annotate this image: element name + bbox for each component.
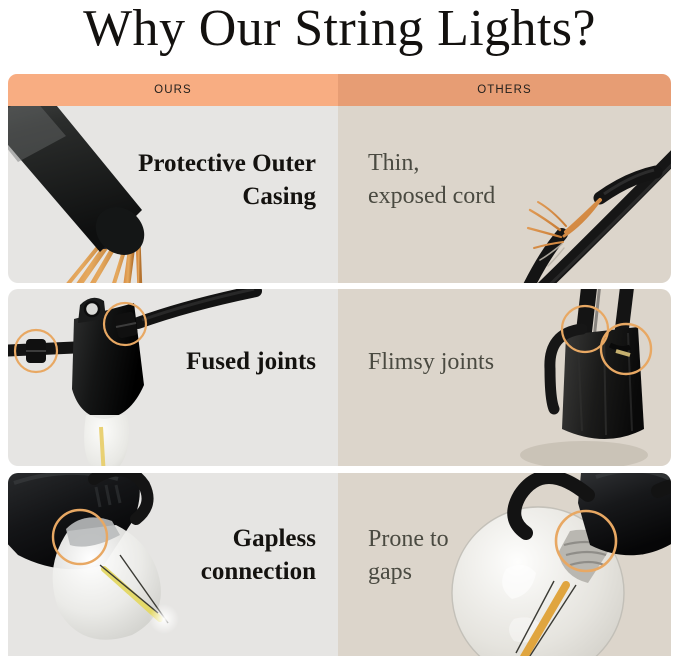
row-3-cell-others: Prone to gaps — [338, 473, 671, 656]
row-1-cell-others: Thin, exposed cord — [338, 106, 671, 283]
comparison-infographic: Why Our String Lights? OURS OTHERS — [0, 0, 679, 656]
row-2-label-others: Flimsy joints — [368, 346, 494, 379]
header-label-ours: OURS — [154, 84, 192, 96]
row-1-label-others: Thin, exposed cord — [368, 147, 495, 213]
header-column-others: OTHERS — [338, 74, 671, 106]
row-3-cell-ours: Gapless connection — [8, 473, 338, 656]
header-label-others: OTHERS — [477, 84, 532, 96]
comparison-row-3: Gapless connection — [8, 473, 671, 656]
row-1-label-ours: Protective Outer Casing — [138, 147, 316, 213]
page-title: Why Our String Lights? — [0, 0, 679, 60]
row-2-label-ours: Fused joints — [186, 345, 316, 378]
row-2-cell-ours: Fused joints — [8, 289, 338, 466]
row-1-cell-ours: Protective Outer Casing — [8, 106, 338, 283]
comparison-row-2: Fused joints — [8, 289, 671, 466]
row-3-label-others: Prone to gaps — [368, 523, 449, 589]
comparison-row-1: Protective Outer Casing — [8, 106, 671, 283]
comparison-header-bar: OURS OTHERS — [8, 74, 671, 106]
header-column-ours: OURS — [8, 74, 338, 106]
row-2-cell-others: Flimsy joints — [338, 289, 671, 466]
row-3-label-ours: Gapless connection — [201, 522, 316, 588]
